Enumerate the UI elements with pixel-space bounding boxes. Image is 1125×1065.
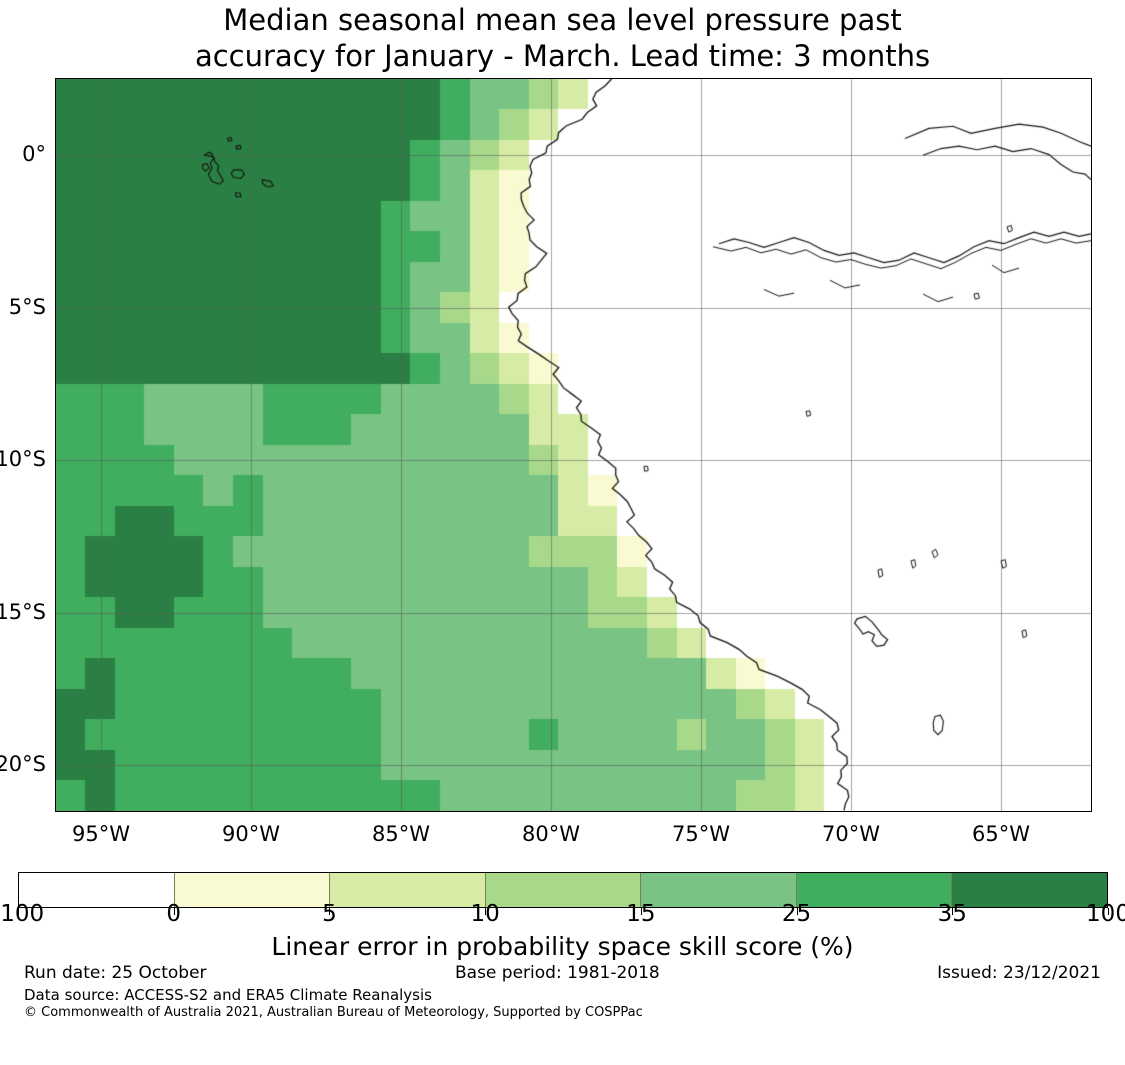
lat-tick-label-3: 15°S <box>0 602 46 623</box>
colorbar-tick-label-3: 10 <box>471 903 500 926</box>
chart-title: Median seasonal mean sea level pressure … <box>0 2 1125 74</box>
skill-score-heatmap-canvas <box>56 79 1091 811</box>
colorbar-axis-label: Linear error in probability space skill … <box>0 933 1125 961</box>
lat-tick-label-0: 0° <box>22 144 46 165</box>
colorbar-tick-label-1: 0 <box>166 903 181 926</box>
lon-tick-label-4: 75°W <box>672 824 730 845</box>
colorbar-tick-label-5: 25 <box>782 903 811 926</box>
colorbar-segment-1 <box>175 873 331 907</box>
lat-tick-label-2: 10°S <box>0 449 46 470</box>
colorbar-segment-6 <box>952 873 1107 907</box>
colorbar-tick-label-4: 15 <box>626 903 655 926</box>
colorbar-segment-5 <box>797 873 953 907</box>
colorbar-tick-label-7: 100 <box>1086 903 1125 926</box>
lon-tick-label-0: 95°W <box>72 824 130 845</box>
colorbar-segment-4 <box>641 873 797 907</box>
lon-tick-label-3: 80°W <box>522 824 580 845</box>
colorbar-segment-2 <box>330 873 486 907</box>
base-period-text: Base period: 1981-2018 <box>455 963 660 983</box>
colorbar-segment-3 <box>486 873 642 907</box>
colorbar-tick-label-2: 5 <box>322 903 337 926</box>
chart-title-line1: Median seasonal mean sea level pressure … <box>0 2 1125 38</box>
lat-tick-label-1: 5°S <box>9 297 46 318</box>
lon-tick-label-5: 70°W <box>822 824 880 845</box>
data-source-text: Data source: ACCESS-S2 and ERA5 Climate … <box>24 986 432 1004</box>
lon-tick-label-6: 65°W <box>972 824 1030 845</box>
lon-tick-label-1: 90°W <box>222 824 280 845</box>
footer-metadata-row: Run date: 25 October Base period: 1981-2… <box>0 963 1125 985</box>
map-plot-area <box>55 78 1092 812</box>
colorbar-tick-label-0: -100 <box>0 903 44 926</box>
run-date-text: Run date: 25 October <box>24 963 207 983</box>
lat-tick-label-4: 20°S <box>0 754 46 775</box>
copyright-text: © Commonwealth of Australia 2021, Austra… <box>24 1005 643 1021</box>
issued-date-text: Issued: 23/12/2021 <box>937 963 1101 983</box>
chart-title-line2: accuracy for January - March. Lead time:… <box>0 38 1125 74</box>
colorbar-tick-label-6: 35 <box>938 903 967 926</box>
lon-tick-label-2: 85°W <box>372 824 430 845</box>
